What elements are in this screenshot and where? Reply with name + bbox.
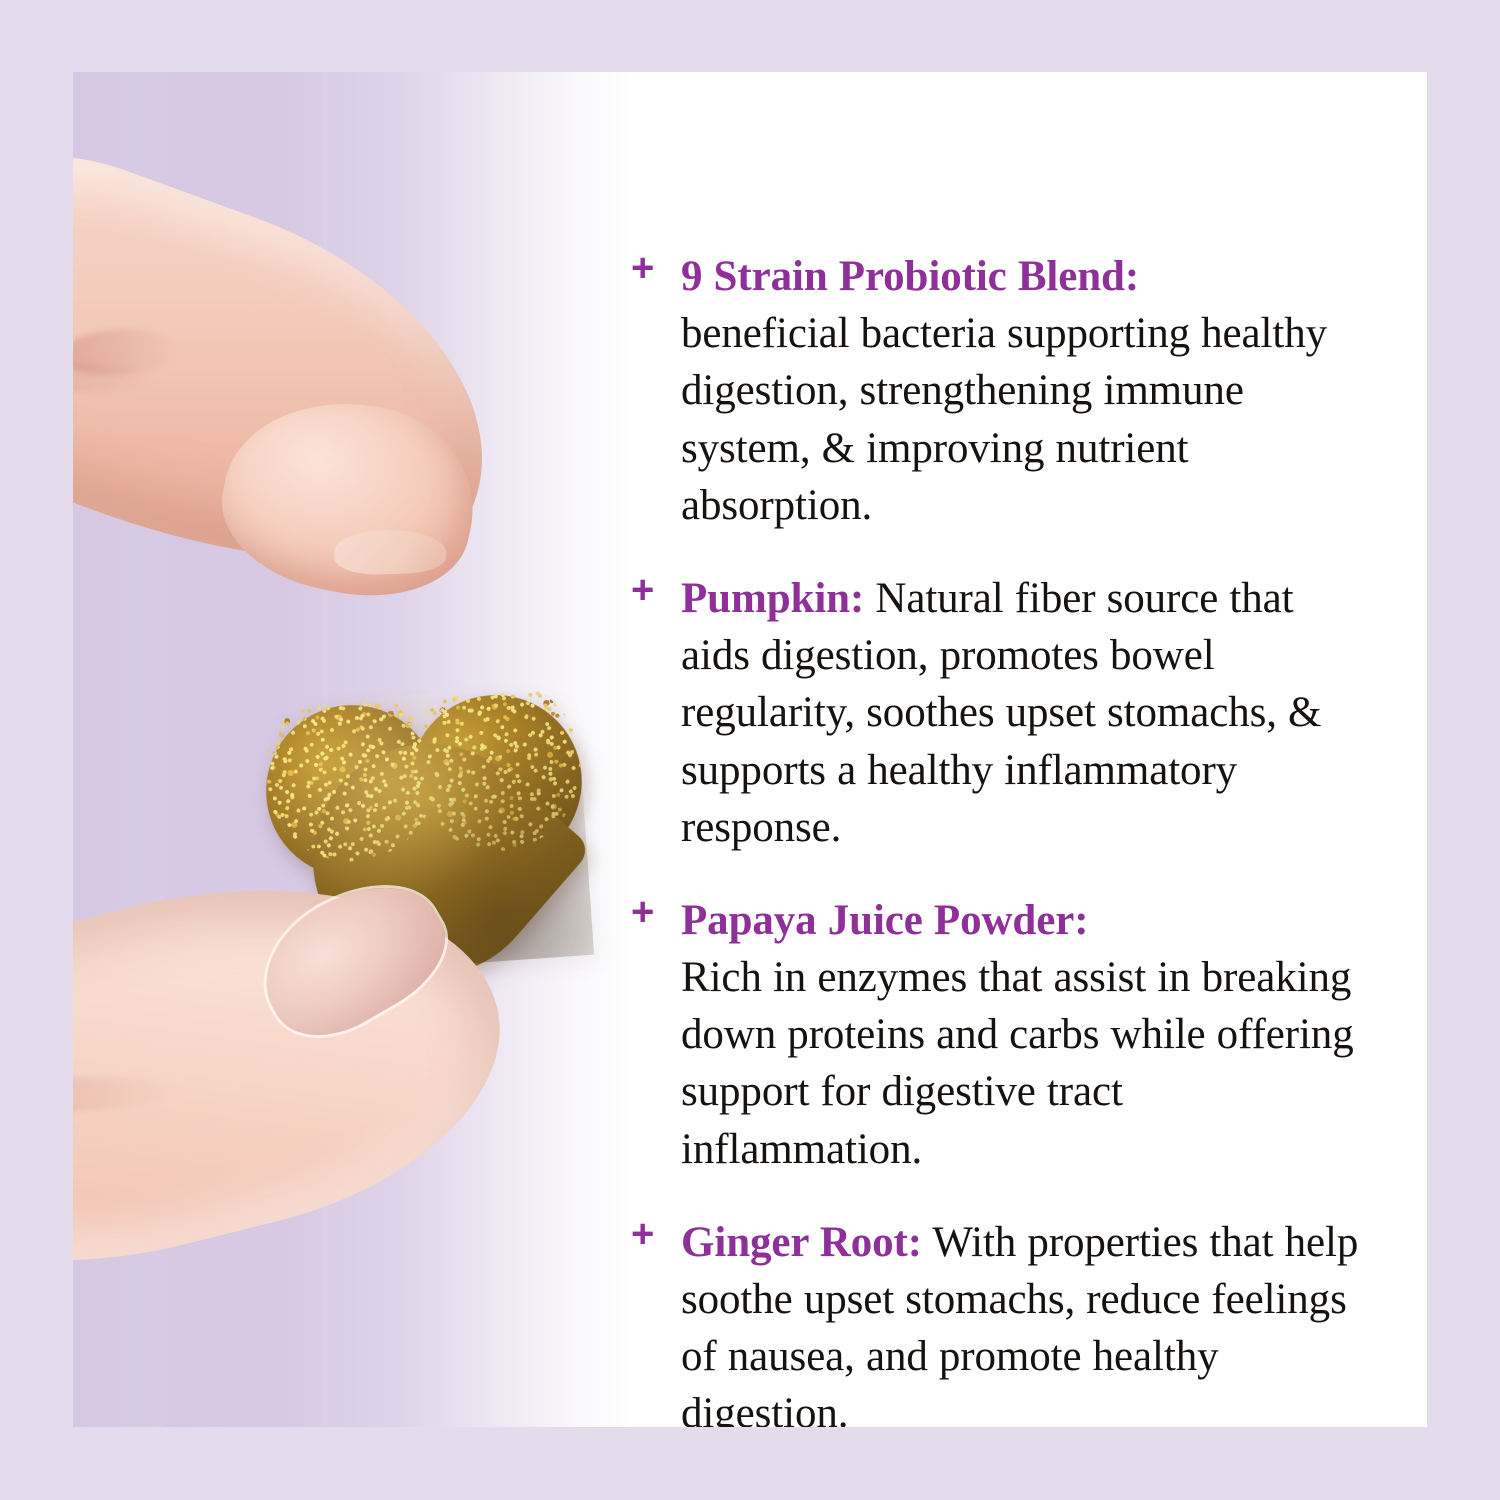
benefit-heading: Ginger Root:	[681, 1219, 922, 1266]
index-fingertip	[207, 379, 491, 617]
plus-icon: +	[631, 1220, 661, 1250]
benefit-item-ginger: + Ginger Root: With properties that help…	[631, 1214, 1371, 1427]
benefit-description: Rich in enzymes that assist in breaking …	[681, 954, 1354, 1173]
benefit-item-papaya: + Papaya Juice Powder:Rich in enzymes th…	[631, 892, 1371, 1178]
benefit-heading: Pumpkin:	[681, 575, 864, 622]
benefit-text: Ginger Root: With properties that help s…	[681, 1214, 1371, 1427]
plus-icon: +	[631, 254, 661, 284]
benefit-item-probiotic: + 9 Strain Probiotic Blend:beneficial ba…	[631, 248, 1371, 534]
plus-icon: +	[631, 898, 661, 928]
benefit-heading: 9 Strain Probiotic Blend:	[681, 253, 1139, 300]
benefit-item-pumpkin: + Pumpkin: Natural fiber source that aid…	[631, 570, 1371, 856]
index-finger	[73, 103, 540, 632]
benefit-heading: Papaya Juice Powder:	[681, 897, 1088, 944]
content-panel: + 9 Strain Probiotic Blend:beneficial ba…	[73, 72, 1427, 1427]
benefit-description: beneficial bacteria supporting healthy d…	[681, 310, 1327, 529]
infographic-canvas: + 9 Strain Probiotic Blend:beneficial ba…	[0, 0, 1500, 1500]
plus-icon: +	[631, 576, 661, 606]
benefits-list: + 9 Strain Probiotic Blend:beneficial ba…	[543, 72, 1427, 1427]
benefit-text: 9 Strain Probiotic Blend:beneficial bact…	[681, 248, 1371, 534]
benefit-text: Pumpkin: Natural fiber source that aids …	[681, 570, 1371, 856]
thumb-crease	[73, 1074, 176, 1115]
benefit-text: Papaya Juice Powder:Rich in enzymes that…	[681, 892, 1371, 1178]
